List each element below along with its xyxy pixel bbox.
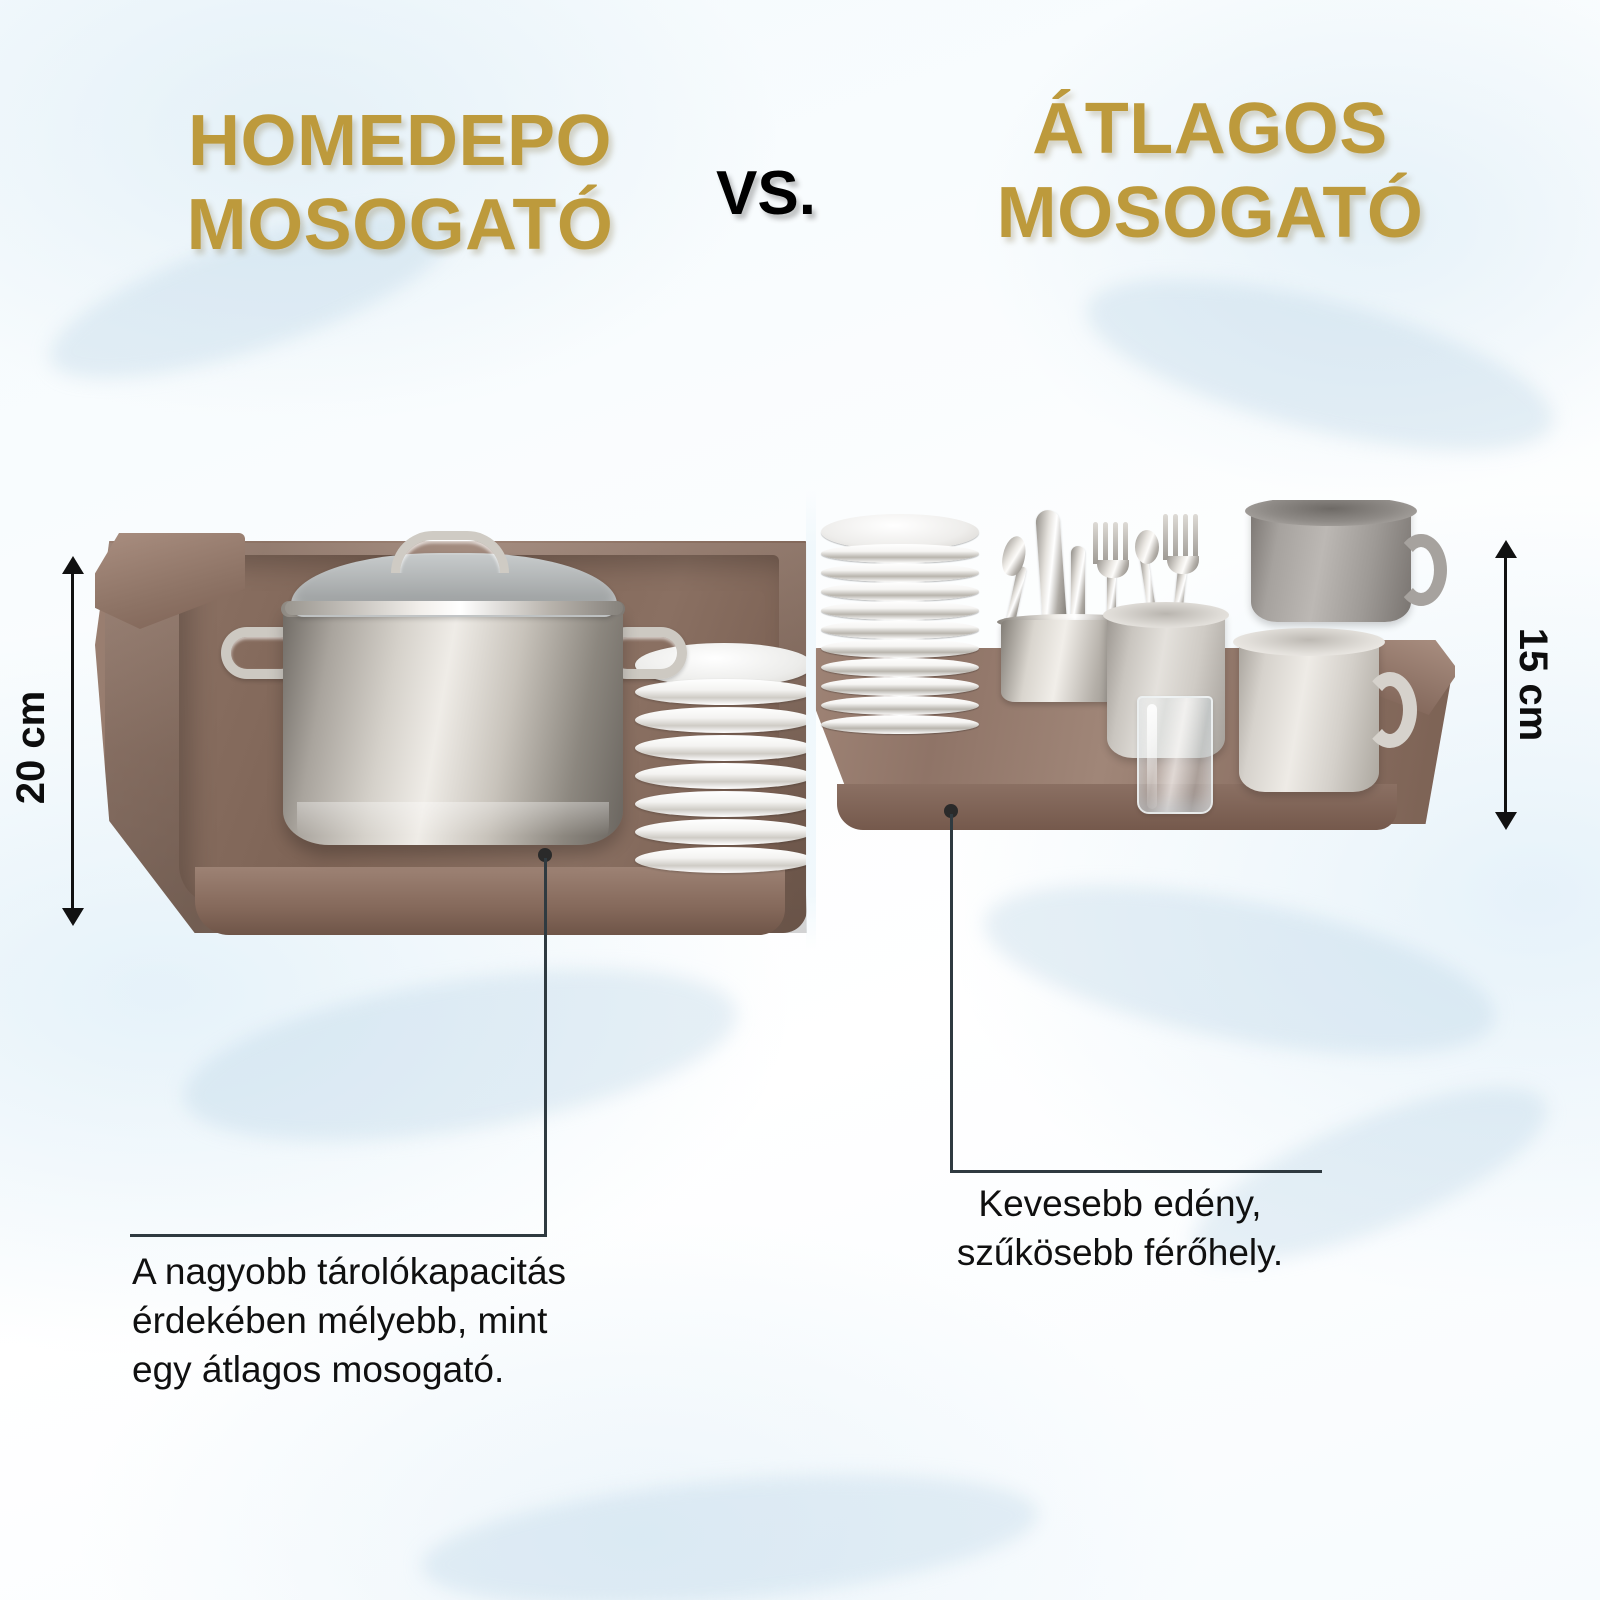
dimension-line [71,572,74,910]
arrow-down-icon [1495,812,1517,830]
fork-neck [1167,556,1199,574]
lid-rim [285,601,623,615]
plate [821,677,979,696]
plate [821,715,979,734]
callout-line-vertical [950,814,953,1172]
right-sink-photo [815,500,1455,860]
plate [635,707,810,733]
knife-blade [1035,509,1067,622]
callout-line-vertical [544,858,547,1236]
mug-light-lip [1103,602,1229,628]
drinking-glass [1137,696,1213,814]
plate [635,763,810,789]
callout-line-horizontal [130,1234,547,1237]
caption-right: Kevesebb edény, szűkösebb férőhely. [905,1180,1335,1278]
plate [821,601,979,620]
plate [635,679,810,705]
fork-tine [1163,514,1168,560]
plate [821,658,979,677]
infographic-canvas: HOMEDEPO MOSOGATÓ VS. ÁTLAGOS MOSOGATÓ [0,0,1600,1600]
plate [821,582,979,601]
plate [635,735,810,761]
fork-tine [1183,514,1188,562]
callout-line-horizontal [950,1170,1322,1173]
mug-beige-lip [1233,628,1385,656]
dimension-line [1504,556,1507,814]
plate [821,696,979,715]
plate [821,544,979,563]
arrow-down-icon [62,908,84,926]
stockpot-body [283,605,623,845]
fork-a-head [1093,522,1131,576]
plate-stack-left [635,643,810,903]
plate [821,639,979,658]
fork-tine [1193,514,1198,560]
plate [821,620,979,639]
fork-tine [1123,522,1128,564]
mug-beige-handle [1363,672,1417,748]
spoon-b-bowl [1135,530,1159,564]
plate [635,819,810,845]
fork-neck [1097,560,1129,578]
mug-grey-handle [1395,534,1447,606]
plate [635,791,810,817]
mug-beige [1239,636,1379,792]
fork-tine [1093,522,1098,564]
left-sink-photo [95,515,810,940]
lid-handle [391,531,509,573]
plate-stack-right [821,514,981,758]
plate [635,847,810,873]
caption-left: A nagyobb tárolókapacitás érdekében mély… [132,1248,652,1394]
fork-b-head [1163,514,1201,570]
panel-divider [806,490,816,950]
dimension-label-left: 20 cm [9,691,54,804]
dimension-label-right: 15 cm [1510,628,1555,741]
plate [821,563,979,582]
fork-tine [1173,514,1178,562]
